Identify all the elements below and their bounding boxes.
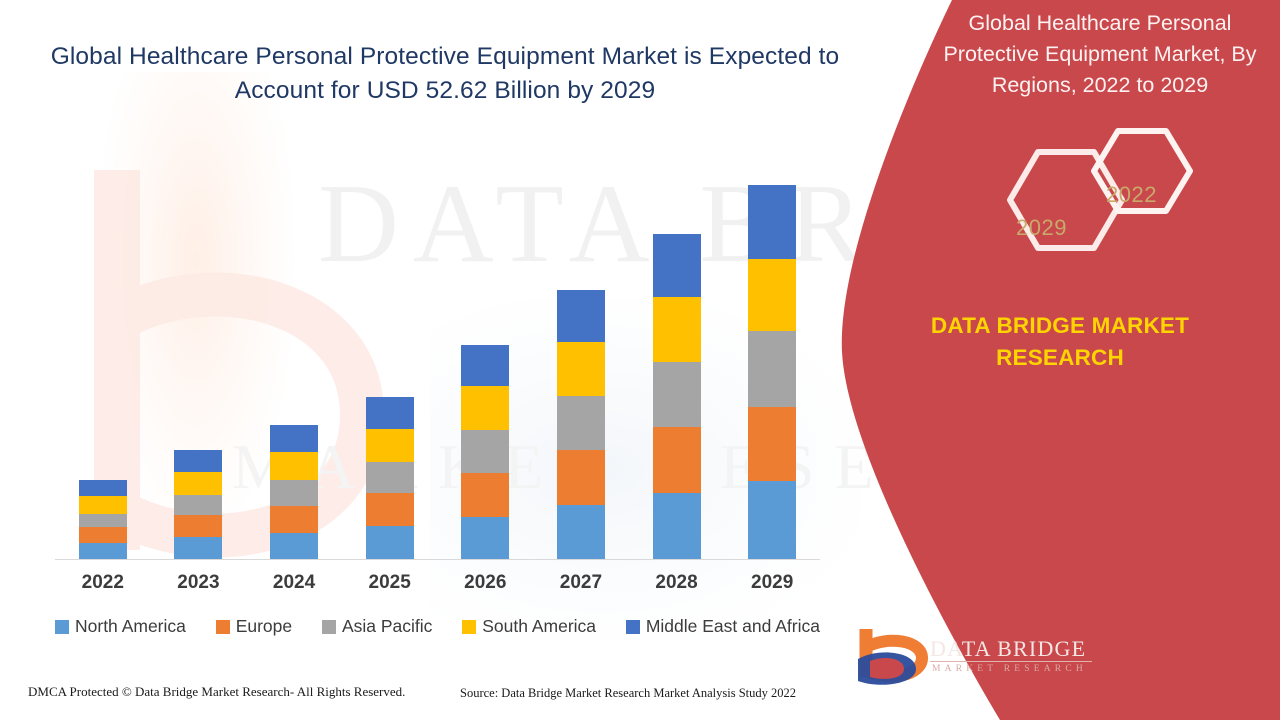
infographic-root: DATA BRIDGE MARKET RESEARCH Global Healt…: [0, 0, 1280, 720]
logo-divider: [930, 661, 1092, 662]
footer-copyright: DMCA Protected © Data Bridge Market Rese…: [28, 684, 405, 700]
chart-panel: DATA BRIDGE MARKET RESEARCH Global Healt…: [0, 0, 980, 720]
legend-item[interactable]: South America: [462, 616, 596, 637]
bar-group-2023: [174, 450, 222, 559]
legend-item[interactable]: Europe: [216, 616, 292, 637]
branding-content: Global Healthcare Personal Protective Eq…: [840, 0, 1280, 720]
x-axis-label: 2024: [246, 572, 342, 594]
bar-group-2027: [557, 290, 605, 559]
bar-segment: [748, 185, 796, 259]
bar-segment: [366, 462, 414, 493]
legend-item[interactable]: Asia Pacific: [322, 616, 432, 637]
brand-name: DATA BRIDGE MARKET RESEARCH: [895, 310, 1225, 374]
bar-segment: [557, 290, 605, 342]
legend-label: Asia Pacific: [342, 616, 432, 637]
bar-segment: [653, 297, 701, 362]
x-axis-label: 2027: [533, 572, 629, 594]
bar-segment: [748, 331, 796, 407]
legend-swatch-icon: [626, 620, 640, 634]
bar-segment: [366, 493, 414, 526]
bar-segment: [557, 396, 605, 450]
legend-swatch-icon: [216, 620, 230, 634]
bar-segment: [79, 527, 127, 543]
bar-segment: [366, 526, 414, 559]
bar-segment: [79, 480, 127, 496]
bar-segment: [366, 397, 414, 429]
bar-segment: [557, 505, 605, 559]
hexagon-outline-icon: [980, 128, 1230, 288]
bar-segment: [79, 514, 127, 527]
chart-x-axis-labels: 20222023202420252026202720282029: [55, 572, 820, 602]
hexagon-label-end-year: 2022: [1106, 182, 1157, 208]
bar-segment: [270, 533, 318, 559]
x-axis-label: 2025: [342, 572, 438, 594]
legend-swatch-icon: [462, 620, 476, 634]
bar-segment: [653, 493, 701, 559]
bar-group-2026: [461, 345, 509, 559]
x-axis-label: 2023: [150, 572, 246, 594]
bar-segment: [79, 543, 127, 559]
x-axis-label: 2022: [55, 572, 151, 594]
chart-plot-area: [55, 150, 820, 559]
bar-segment: [461, 473, 509, 517]
legend-item[interactable]: Middle East and Africa: [626, 616, 820, 637]
legend-label: Europe: [236, 616, 292, 637]
bar-segment: [653, 234, 701, 297]
logo-subtext: MARKET RESEARCH: [932, 664, 1087, 674]
legend-label: North America: [75, 616, 186, 637]
bar-segment: [461, 345, 509, 386]
bar-segment: [461, 517, 509, 559]
hexagon-badges: 2029 2022: [980, 128, 1230, 288]
bar-segment: [174, 515, 222, 537]
bar-segment: [270, 452, 318, 480]
bar-segment: [557, 342, 605, 396]
bar-segment: [748, 259, 796, 331]
legend-swatch-icon: [55, 620, 69, 634]
bar-segment: [748, 407, 796, 481]
bar-group-2024: [270, 425, 318, 559]
chart-legend: North AmericaEuropeAsia PacificSouth Ame…: [55, 616, 820, 637]
bar-segment: [366, 429, 414, 462]
bar-segment: [653, 427, 701, 493]
bar-segment: [174, 472, 222, 495]
bar-group-2029: [748, 185, 796, 559]
hexagon-label-start-year: 2029: [1016, 215, 1067, 241]
branding-title: Global Healthcare Personal Protective Eq…: [935, 8, 1265, 101]
bar-group-2025: [366, 397, 414, 559]
bar-segment: [748, 481, 796, 559]
x-axis-label: 2029: [724, 572, 820, 594]
bar-segment: [270, 506, 318, 533]
x-axis-label: 2026: [437, 572, 533, 594]
bar-segment: [461, 430, 509, 473]
bar-group-2022: [79, 480, 127, 559]
legend-item[interactable]: North America: [55, 616, 186, 637]
footer-source: Source: Data Bridge Market Research Mark…: [460, 686, 796, 701]
bar-segment: [653, 362, 701, 427]
bar-segment: [174, 537, 222, 559]
legend-swatch-icon: [322, 620, 336, 634]
bar-segment: [557, 450, 605, 505]
bar-segment: [174, 450, 222, 472]
bar-segment: [461, 386, 509, 430]
bar-group-2028: [653, 234, 701, 559]
x-axis-label: 2028: [629, 572, 725, 594]
bar-segment: [79, 496, 127, 514]
bar-segment: [270, 425, 318, 452]
chart-axis-line: [55, 559, 820, 560]
legend-label: South America: [482, 616, 596, 637]
legend-label: Middle East and Africa: [646, 616, 820, 637]
chart-title: Global Healthcare Personal Protective Eq…: [40, 40, 850, 108]
bar-segment: [174, 495, 222, 515]
logo-wordmark: DATA BRIDGE: [930, 636, 1086, 662]
bar-segment: [270, 480, 318, 506]
